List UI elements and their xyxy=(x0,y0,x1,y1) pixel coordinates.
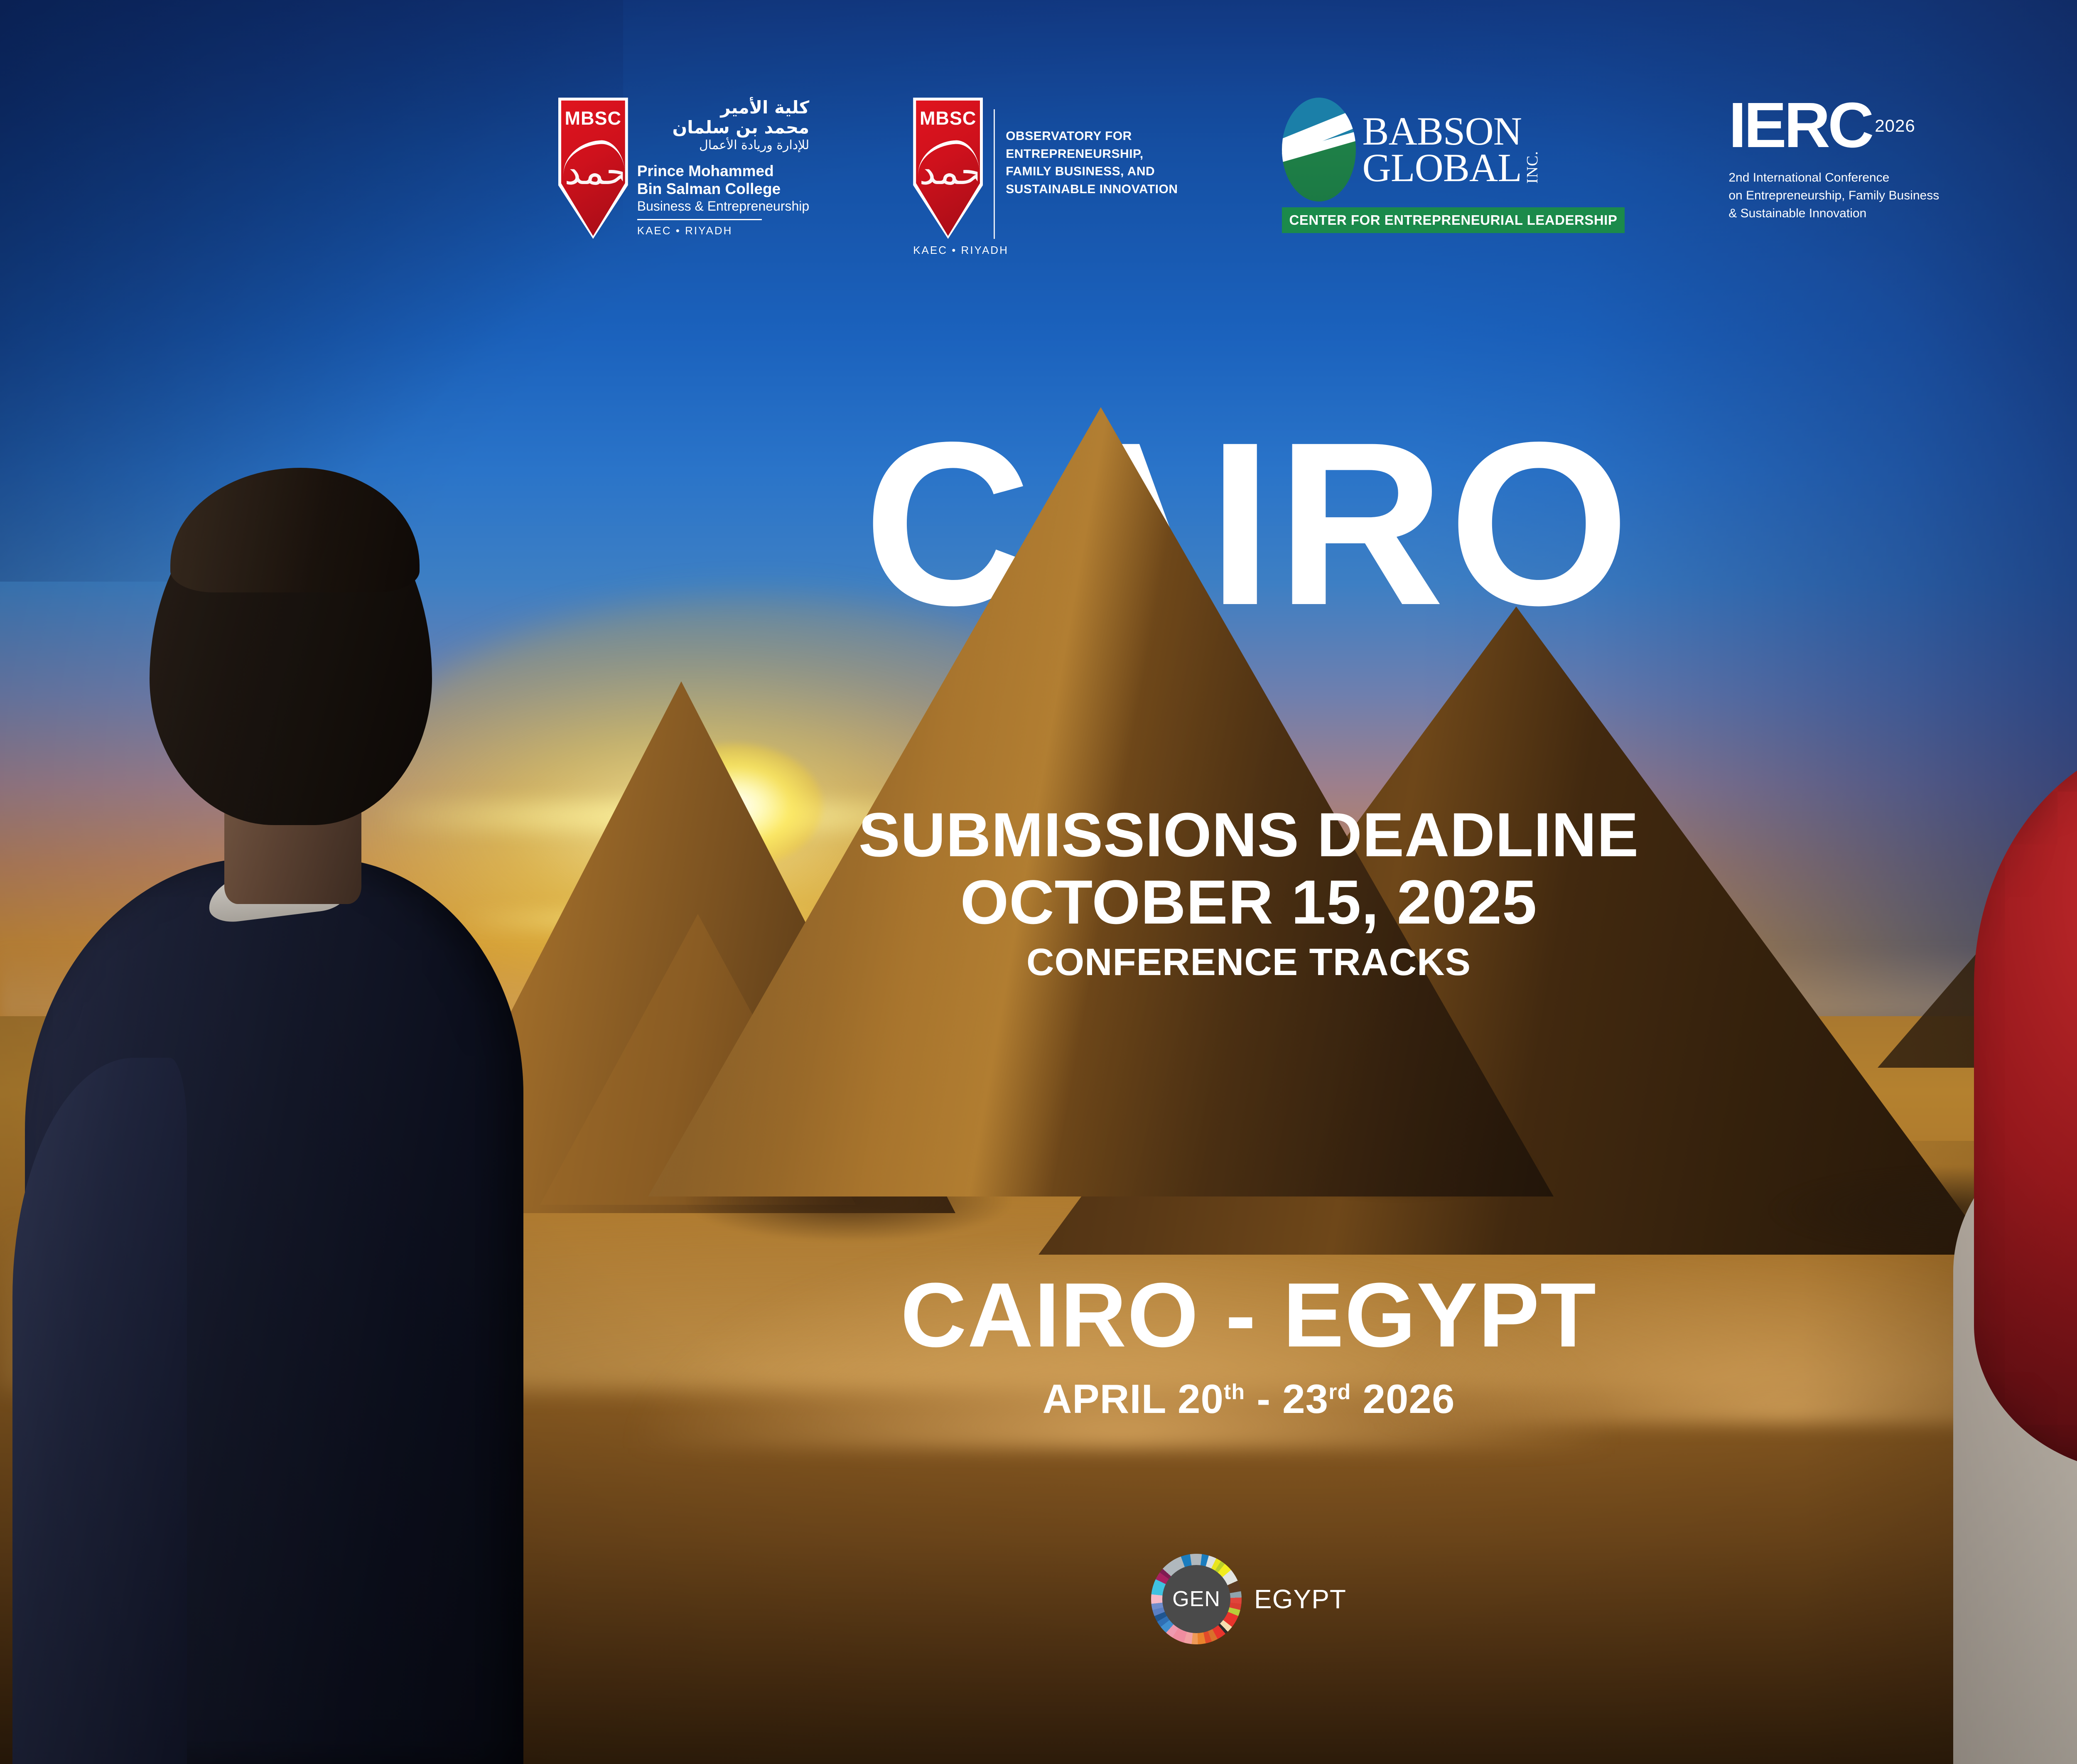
ierc-wordmark: IERC xyxy=(1728,98,1871,152)
ierc-year-badge: 2026 xyxy=(1875,116,1915,136)
mbsc-arabic-line-1: كلية الأمير xyxy=(637,98,809,118)
observatory-title-line-1: OBSERVATORY FOR xyxy=(1006,128,1178,145)
submissions-deadline-date: OCTOBER 15, 2025 xyxy=(0,868,2077,936)
shield-calligraphy-icon: محمد xyxy=(919,154,978,216)
observatory-shield-icon: MBSC محمد xyxy=(913,98,983,239)
conference-tracks-label: CONFERENCE TRACKS xyxy=(0,936,2077,988)
mbsc-divider-rule xyxy=(637,219,762,220)
ierc-subtitle: 2nd International Conference on Entrepre… xyxy=(1728,169,1939,222)
babson-top-row: BABSON GLOBAL INC. xyxy=(1282,98,1625,201)
mbsc-english-line-1: Prince Mohammed xyxy=(637,162,809,180)
observatory-title-line-2: ENTREPRENEURSHIP, xyxy=(1006,145,1178,163)
babson-center-band: CENTER FOR ENTREPRENEURIAL LEADERSHIP xyxy=(1282,207,1625,233)
ierc-subtitle-line-1: 2nd International Conference xyxy=(1728,169,1939,187)
sponsor-logo-row: MBSC محمد كلية الأمير محمد بن سلمان للإد… xyxy=(0,98,2077,239)
mbsc-arabic-line-3: للإدارة وريادة الأعمال xyxy=(637,138,809,153)
ierc-subtitle-line-3: & Sustainable Innovation xyxy=(1728,205,1939,223)
babson-wordmark: BABSON GLOBAL INC. xyxy=(1363,113,1542,187)
mbsc-arabic-line-2: محمد بن سلمان xyxy=(637,118,809,138)
conference-poster: CAIRO SUBMISSIONS DEADLINE OCTOBER 15, 2… xyxy=(0,0,2077,1764)
observatory-title: OBSERVATORY FOR ENTREPRENEURSHIP, FAMILY… xyxy=(1006,128,1178,198)
mbsc-english-line-3: Business & Entrepreneurship xyxy=(637,198,809,214)
gen-country-label: EGYPT xyxy=(1254,1584,1346,1614)
logo-mbsc-college[interactable]: MBSC محمد كلية الأمير محمد بن سلمان للإد… xyxy=(558,98,809,239)
logo-babson-global[interactable]: BABSON GLOBAL INC. CENTER FOR ENTREPRENE… xyxy=(1282,98,1625,233)
observatory-campus-label: KAEC • RIYADH xyxy=(913,244,1009,257)
date-prefix: APRIL 20 xyxy=(1043,1376,1224,1422)
shield-calligraphy-icon: محمد xyxy=(564,154,623,216)
observatory-title-line-4: SUSTAINABLE INNOVATION xyxy=(1006,181,1178,199)
date-ordinal-first: th xyxy=(1224,1380,1245,1404)
date-middle: - 23 xyxy=(1245,1376,1328,1422)
babson-globe-icon xyxy=(1282,98,1356,201)
date-ordinal-second: rd xyxy=(1328,1380,1351,1404)
logo-observatory[interactable]: MBSC محمد OBSERVATORY FOR ENTREPRENEURSH… xyxy=(913,98,1178,239)
babson-word-1: BABSON xyxy=(1363,113,1542,150)
observatory-vertical-rule xyxy=(994,109,995,239)
gen-egypt-badge[interactable]: GEN EGYPT xyxy=(0,1554,2077,1644)
announcement-block: SUBMISSIONS DEADLINE OCTOBER 15, 2025 CO… xyxy=(0,802,2077,988)
mbsc-campus-label: KAEC • RIYADH xyxy=(637,224,809,237)
ierc-subtitle-line-2: on Entrepreneurship, Family Business xyxy=(1728,187,1939,205)
mbsc-college-text: كلية الأمير محمد بن سلمان للإدارة وريادة… xyxy=(637,98,809,237)
submissions-deadline-label: SUBMISSIONS DEADLINE xyxy=(0,802,2077,868)
location-title: CAIRO - EGYPT xyxy=(0,1267,2077,1363)
babson-word-2-row: GLOBAL INC. xyxy=(1363,150,1542,186)
shield-mbsc-label: MBSC xyxy=(913,108,983,129)
mbsc-shield-icon: MBSC محمد xyxy=(558,98,628,239)
logo-ierc[interactable]: IERC 2026 2nd International Conference o… xyxy=(1728,98,1939,222)
mbsc-english-line-2: Bin Salman College xyxy=(637,180,809,198)
shield-mbsc-label: MBSC xyxy=(558,108,628,129)
babson-word-2: GLOBAL xyxy=(1363,150,1522,186)
babson-inc-suffix: INC. xyxy=(1523,151,1542,184)
ierc-top-row: IERC 2026 xyxy=(1728,98,1939,152)
date-year: 2026 xyxy=(1351,1376,1455,1422)
gen-color-wheel-icon: GEN xyxy=(1151,1554,1242,1644)
location-block: CAIRO - EGYPT APRIL 20th - 23rd 2026 xyxy=(0,1267,2077,1423)
gen-hub-label: GEN xyxy=(1162,1565,1230,1633)
event-dates: APRIL 20th - 23rd 2026 xyxy=(0,1376,2077,1423)
observatory-title-line-3: FAMILY BUSINESS, AND xyxy=(1006,163,1178,181)
